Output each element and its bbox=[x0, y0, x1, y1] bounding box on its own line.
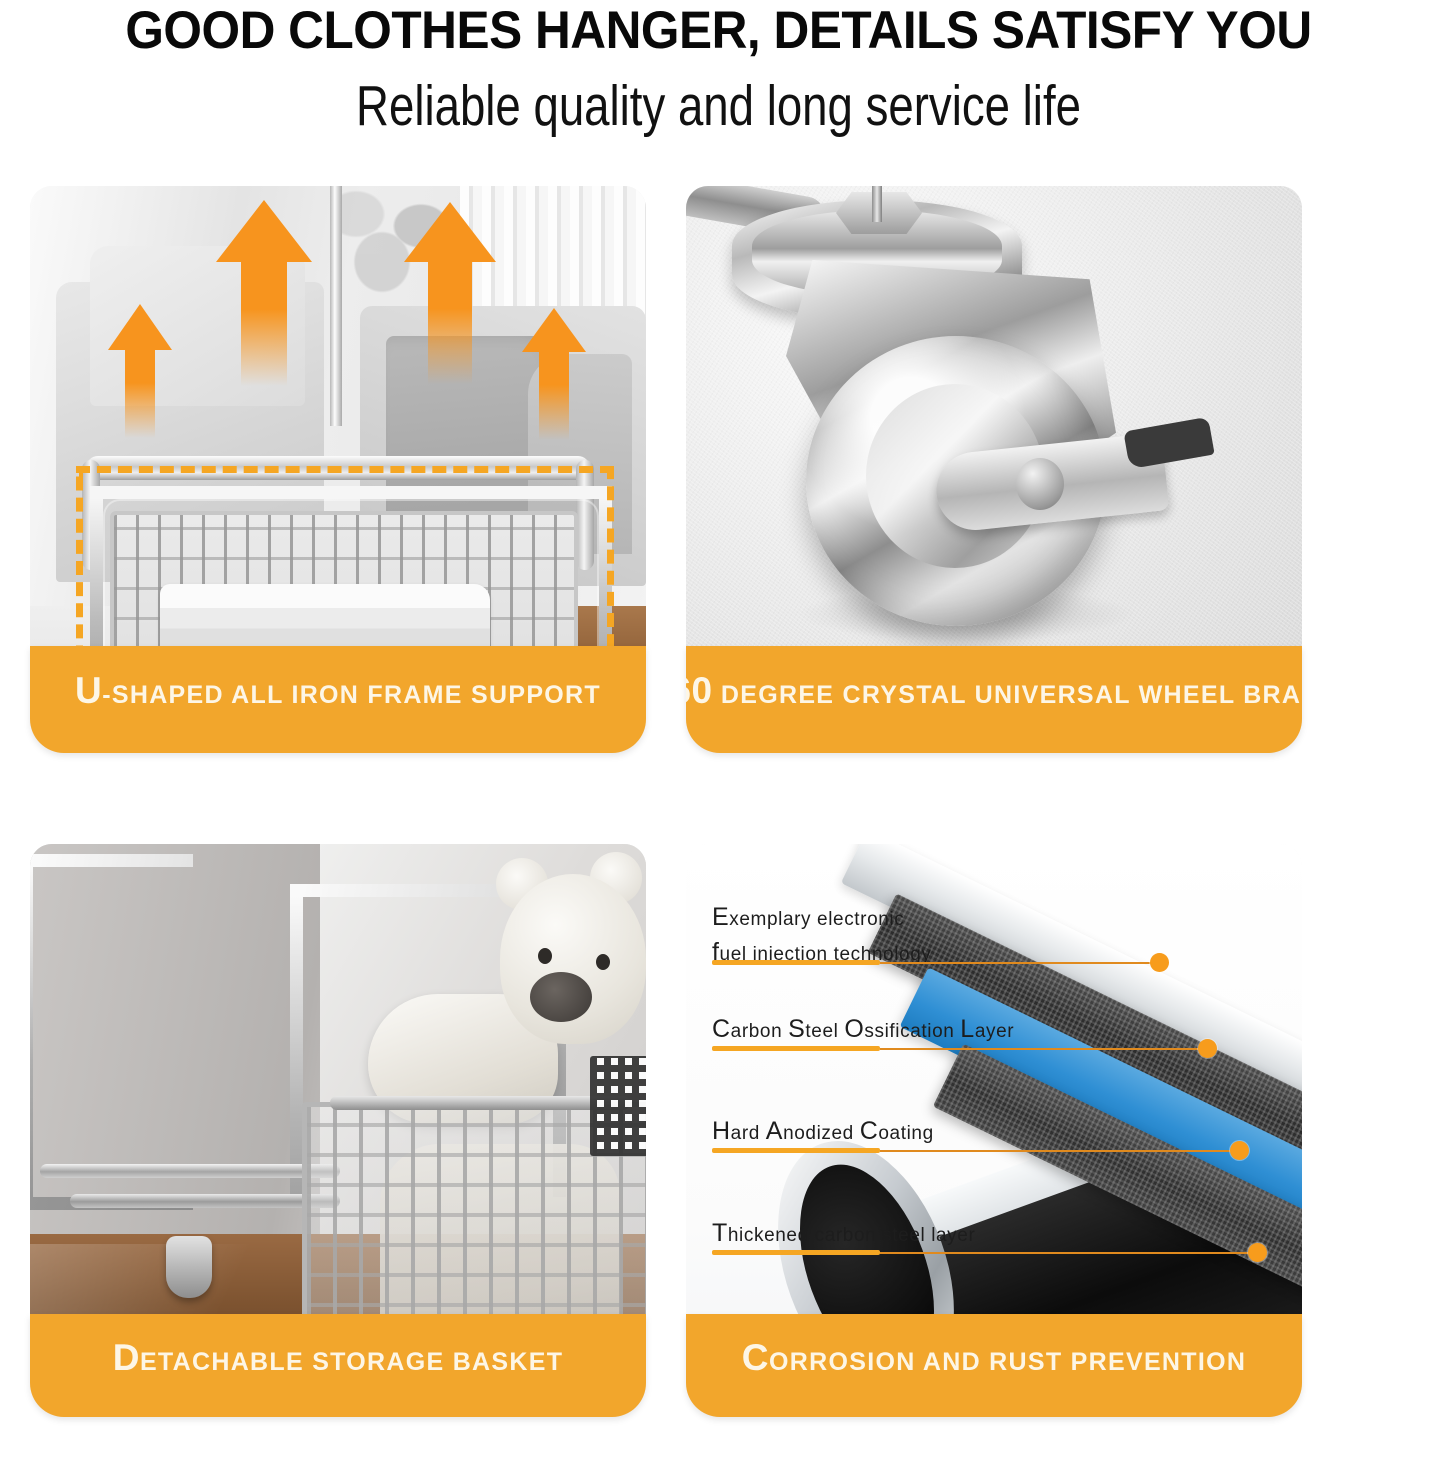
lift-arrow-4 bbox=[522, 308, 586, 436]
caption-rest: Degree crystal universal wheel brake bbox=[713, 681, 1302, 709]
page-title: GOOD CLOTHES HANGER, DETAILS SATISFY YOU bbox=[47, 3, 1391, 59]
callout-hard-anodized-coating: Hard Anodized Coating bbox=[712, 1114, 934, 1149]
callout-carbon-steel-ossification-layer: Carbon Steel Ossification Layer bbox=[712, 1012, 1014, 1047]
caption-text: 360 Degree crystal universal wheel brake bbox=[686, 670, 1302, 712]
callout-thickened-carbon-steel-layer: Thickened carbon steel layer bbox=[712, 1216, 975, 1251]
callout-lead-letter: E bbox=[712, 903, 729, 931]
brake-pivot-pin bbox=[1016, 458, 1064, 510]
callout-label: Exemplary electronic fuel injection tech… bbox=[712, 900, 931, 969]
callout-leader-line bbox=[880, 1048, 1200, 1050]
caster-stem bbox=[872, 186, 882, 222]
caption-rest: etachable storage basket bbox=[140, 1348, 563, 1376]
callout-exemplary-electronic-fuel-injection: Exemplary electronic fuel injection tech… bbox=[712, 900, 931, 969]
callout-dot bbox=[1198, 1039, 1217, 1058]
feature-panel-detachable-storage-basket: Detachable storage basket bbox=[30, 844, 646, 1417]
callout-lead-letter: T bbox=[712, 1219, 728, 1247]
callout-label: Carbon Steel Ossification Layer bbox=[712, 1012, 1014, 1047]
page-subtitle: Reliable quality and long service life bbox=[144, 77, 1294, 137]
callout-leader-line bbox=[880, 962, 1152, 964]
callout-line-1: xemplary electronic bbox=[729, 909, 904, 930]
callout-leader-line bbox=[880, 1252, 1250, 1254]
lift-arrow-3 bbox=[404, 202, 496, 378]
infographic-page: GOOD CLOTHES HANGER, DETAILS SATISFY YOU… bbox=[0, 0, 1437, 1483]
caster-wheel bbox=[166, 1236, 212, 1298]
frame-rail-1 bbox=[40, 1164, 340, 1178]
photo-detachable-storage-basket bbox=[30, 844, 646, 1392]
plush-bear-eye-right bbox=[596, 954, 610, 970]
caption-bar-detachable-storage-basket: Detachable storage basket bbox=[30, 1314, 646, 1417]
header: GOOD CLOTHES HANGER, DETAILS SATISFY YOU… bbox=[0, 0, 1437, 137]
feature-panel-corrosion-rust-prevention: Exemplary electronic fuel injection tech… bbox=[686, 844, 1302, 1417]
callout-group: Exemplary electronic fuel injection tech… bbox=[686, 844, 1302, 1392]
basket-rim bbox=[330, 1096, 630, 1110]
caption-text: U-Shaped all iron frame support bbox=[75, 670, 601, 712]
caption-lead: 360 bbox=[686, 670, 713, 711]
checkered-cloth bbox=[590, 1056, 646, 1156]
caption-rest: orrosion and rust prevention bbox=[769, 1348, 1246, 1376]
u-frame-left bbox=[30, 854, 193, 1210]
plush-bear-snout bbox=[530, 972, 592, 1022]
caption-bar-universal-wheel-brake: 360 Degree crystal universal wheel brake bbox=[686, 646, 1302, 753]
plush-bear-eye-left bbox=[538, 948, 552, 964]
callout-bar bbox=[712, 1148, 880, 1153]
caption-bar-u-frame-support: U-Shaped all iron frame support bbox=[30, 646, 646, 753]
callout-leader-line bbox=[880, 1150, 1232, 1152]
photo-universal-wheel-brake bbox=[686, 186, 1302, 726]
caption-lead: C bbox=[742, 1337, 769, 1378]
lift-arrow-2 bbox=[216, 200, 312, 380]
callout-bar bbox=[712, 1046, 880, 1051]
caption-lead: U bbox=[75, 670, 102, 711]
caption-lead: D bbox=[113, 1337, 140, 1378]
callout-line-1: hickened carbon steel layer bbox=[728, 1225, 976, 1246]
photo-corrosion-rust-prevention: Exemplary electronic fuel injection tech… bbox=[686, 844, 1302, 1392]
caption-rest: -Shaped all iron frame support bbox=[102, 681, 601, 709]
feature-panel-u-frame-support: U-Shaped all iron frame support bbox=[30, 186, 646, 753]
lift-arrow-1 bbox=[108, 304, 172, 434]
callout-dot bbox=[1230, 1141, 1249, 1160]
callout-bar bbox=[712, 1250, 880, 1255]
callout-dot bbox=[1248, 1243, 1267, 1262]
callout-label: Hard Anodized Coating bbox=[712, 1114, 934, 1149]
callout-bar bbox=[712, 960, 880, 965]
caption-text: Detachable storage basket bbox=[113, 1337, 564, 1379]
caption-text: Corrosion and rust prevention bbox=[742, 1337, 1246, 1379]
caption-bar-corrosion-rust-prevention: Corrosion and rust prevention bbox=[686, 1314, 1302, 1417]
feature-panel-universal-wheel-brake: 360 Degree crystal universal wheel brake bbox=[686, 186, 1302, 753]
photo-u-frame-support bbox=[30, 186, 646, 726]
rack-pole bbox=[330, 186, 342, 426]
frame-rail-2 bbox=[70, 1194, 340, 1208]
callout-dot bbox=[1150, 953, 1169, 972]
callout-label: Thickened carbon steel layer bbox=[712, 1216, 975, 1251]
